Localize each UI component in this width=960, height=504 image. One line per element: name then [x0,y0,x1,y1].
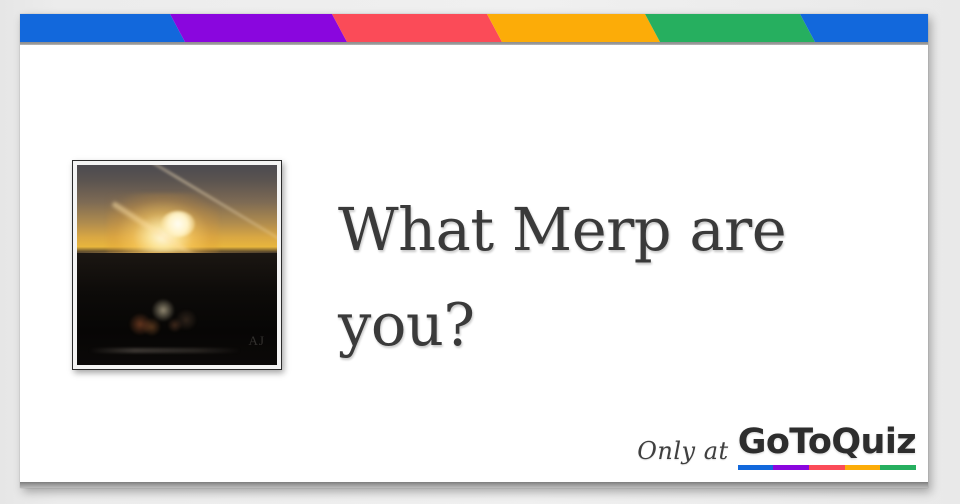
card-bottom-rule [20,482,928,488]
brand-rule-blue [738,465,774,470]
brand-block: GoToQuiz [738,425,916,470]
thumbnail-image: AJ [77,165,277,365]
ribbon-segment-purple [170,14,347,42]
gotoquiz-logo[interactable]: Only at GoToQuiz [637,425,916,470]
brand-underline-rule [738,465,916,470]
ribbon-segment-blue-2 [800,14,928,42]
rainbow-ribbon [20,14,928,42]
brand-wordmark: GoToQuiz [738,425,916,461]
image-watermark: AJ [249,333,265,349]
sun-core [161,211,195,237]
brand-rule-red [809,465,845,470]
ribbon-segment-green [645,14,815,42]
ribbon-segment-orange [487,14,660,42]
quiz-thumbnail[interactable]: AJ [72,160,282,370]
ribbon-divider-rule [20,42,928,45]
quiz-card: AJ What Merp are you? Only at GoToQuiz [20,14,928,488]
only-at-label: Only at [637,437,728,465]
page-title: What Merp are you? [338,182,878,373]
brand-rule-orange [845,465,881,470]
distant-lights [97,297,241,341]
brand-rule-green [880,465,916,470]
ribbon-segment-red [332,14,502,42]
ribbon-segment-blue [20,14,185,42]
brand-rule-purple [773,465,809,470]
foreground-railing [89,348,241,353]
